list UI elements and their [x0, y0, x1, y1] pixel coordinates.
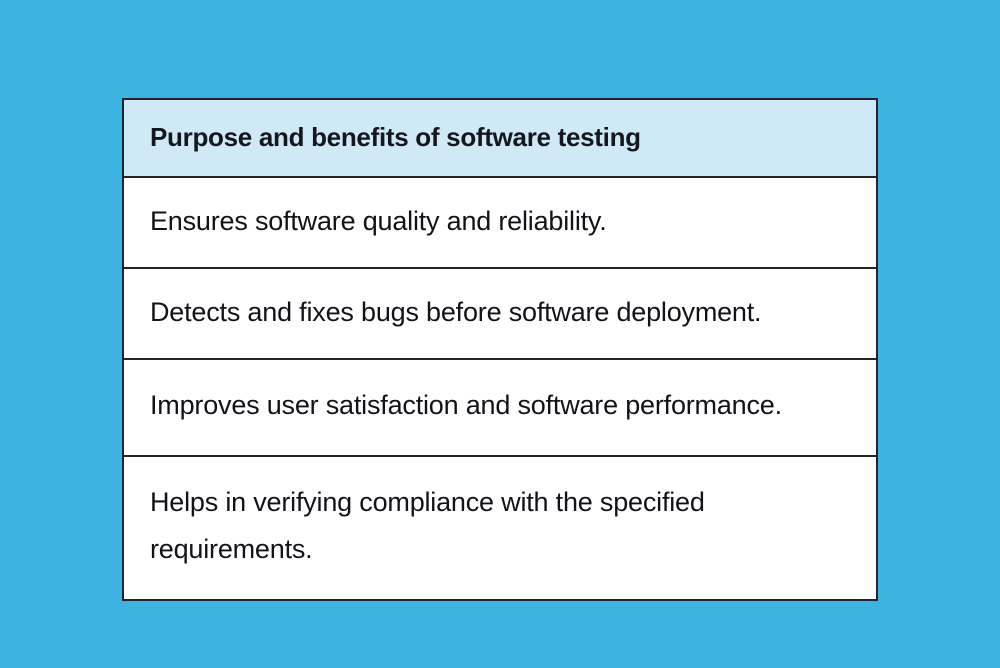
table-row: Detects and fixes bugs before software d…	[123, 268, 877, 359]
table-title: Purpose and benefits of software testing	[124, 100, 876, 176]
purpose-and-benefits-table: Purpose and benefits of software testing…	[122, 98, 878, 601]
page-root: Purpose and benefits of software testing…	[0, 0, 1000, 668]
table-row: Improves user satisfaction and software …	[123, 359, 877, 456]
table-body: Purpose and benefits of software testing…	[123, 99, 877, 600]
table-cell: Helps in verifying compliance with the s…	[123, 456, 877, 600]
table-row-text: Detects and fixes bugs before software d…	[124, 269, 876, 358]
table-header-cell: Purpose and benefits of software testing	[123, 99, 877, 177]
table-header-row: Purpose and benefits of software testing	[123, 99, 877, 177]
table-row: Helps in verifying compliance with the s…	[123, 456, 877, 600]
table-row-text: Ensures software quality and reliability…	[124, 178, 876, 267]
table-cell: Improves user satisfaction and software …	[123, 359, 877, 456]
table-cell: Detects and fixes bugs before software d…	[123, 268, 877, 359]
info-table-container: Purpose and benefits of software testing…	[122, 98, 878, 601]
table-cell: Ensures software quality and reliability…	[123, 177, 877, 268]
table-row-text: Improves user satisfaction and software …	[124, 360, 876, 455]
table-row-text: Helps in verifying compliance with the s…	[124, 457, 876, 599]
table-row: Ensures software quality and reliability…	[123, 177, 877, 268]
